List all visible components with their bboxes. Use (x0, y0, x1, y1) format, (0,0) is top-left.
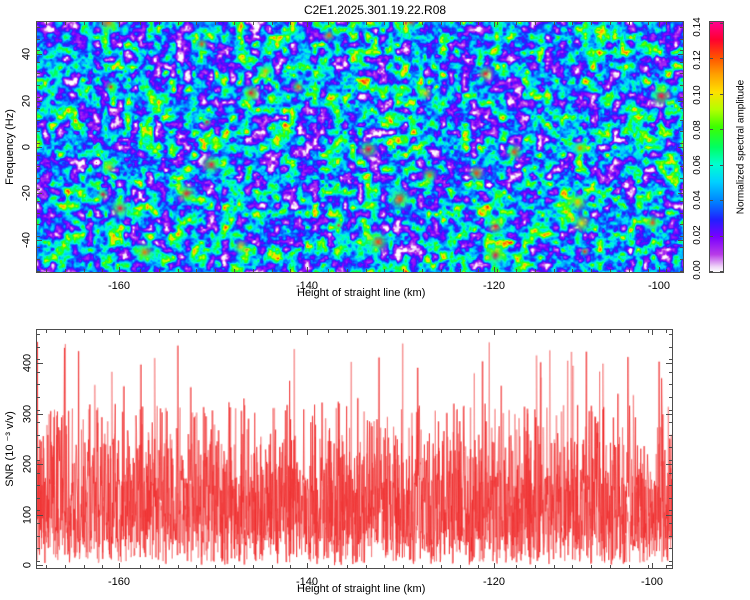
tick-mark (710, 129, 713, 130)
tick-mark (366, 330, 367, 333)
tick-mark (253, 565, 254, 568)
tick-mark (37, 510, 40, 511)
colorbar-tick-7: 0.14 (693, 17, 703, 36)
tick-mark (659, 267, 660, 272)
tick-mark (37, 166, 40, 167)
tick-mark (680, 201, 683, 202)
tick-mark (37, 193, 42, 194)
tick-mark (648, 22, 649, 25)
tick-mark (119, 22, 120, 27)
tick-mark (366, 565, 367, 568)
tick-mark (272, 565, 273, 568)
tick-mark (84, 330, 85, 333)
tick-mark (680, 143, 683, 144)
tick-mark (652, 330, 653, 335)
tick-mark (102, 269, 103, 272)
tick-mark (659, 22, 660, 27)
tick-mark (666, 22, 667, 25)
snr-ytick-3: 300 (23, 405, 34, 423)
tick-mark (37, 259, 40, 260)
tick-mark (159, 269, 160, 272)
tick-mark (46, 330, 47, 333)
tick-mark (460, 269, 461, 272)
tick-mark (629, 330, 630, 333)
tick-mark (591, 330, 592, 333)
tick-mark (572, 22, 573, 25)
tick-mark (65, 22, 66, 25)
tick-mark (37, 397, 40, 398)
tick-mark (669, 548, 672, 549)
tick-mark (680, 50, 683, 51)
tick-mark (307, 267, 308, 272)
tick-mark (478, 330, 479, 333)
colorbar-tick-4: 0.08 (693, 120, 703, 139)
tick-mark (37, 565, 43, 566)
tick-mark (680, 224, 683, 225)
tick-mark (591, 269, 592, 272)
tick-mark (140, 269, 141, 272)
tick-mark (460, 565, 461, 568)
tick-mark (37, 240, 42, 241)
tick-mark (46, 269, 47, 272)
tick-mark (535, 22, 536, 25)
tick-mark (441, 330, 442, 333)
tick-mark (37, 536, 40, 537)
spectrogram-xtick-3: -100 (648, 281, 670, 292)
tick-mark (102, 565, 103, 568)
tick-mark (37, 435, 40, 436)
snr-y-axis-label: SNR (10 ⁻³ v/v) (4, 411, 16, 486)
tick-mark (666, 464, 672, 465)
tick-mark (215, 330, 216, 333)
tick-mark (610, 565, 611, 568)
tick-mark (610, 330, 611, 333)
tick-mark (347, 22, 348, 25)
tick-mark (272, 22, 273, 25)
tick-mark (441, 22, 442, 25)
tick-mark (535, 330, 536, 333)
tick-mark (234, 565, 235, 568)
tick-mark (37, 155, 40, 156)
tick-mark (720, 94, 723, 95)
tick-mark (307, 563, 308, 568)
tick-mark (648, 565, 649, 568)
tick-mark (46, 565, 47, 568)
snr-x-axis-label: Height of straight line (km) (297, 583, 425, 595)
tick-mark (680, 166, 683, 167)
tick-mark (494, 330, 495, 335)
tick-mark (494, 267, 495, 272)
tick-mark (710, 94, 713, 95)
tick-mark (669, 410, 672, 411)
tick-mark (366, 269, 367, 272)
tick-mark (253, 22, 254, 25)
tick-mark (572, 330, 573, 333)
snr-ytick-0: 0 (23, 562, 34, 568)
tick-mark (680, 73, 683, 74)
tick-mark (678, 147, 683, 148)
snr-xtick-2: -120 (483, 577, 505, 588)
tick-mark (46, 22, 47, 25)
tick-mark (37, 101, 42, 102)
tick-mark (516, 330, 517, 333)
tick-mark (680, 155, 683, 156)
tick-mark (680, 271, 683, 272)
tick-mark (403, 22, 404, 25)
tick-mark (720, 58, 723, 59)
tick-mark (196, 565, 197, 568)
tick-mark (37, 224, 40, 225)
colorbar-axis-label: Normalized spectral amplitude (736, 80, 747, 215)
tick-mark (196, 22, 197, 25)
tick-mark (37, 460, 40, 461)
tick-mark (460, 22, 461, 25)
tick-mark (37, 213, 40, 214)
tick-mark (65, 269, 66, 272)
tick-mark (710, 165, 713, 166)
tick-mark (669, 334, 672, 335)
tick-mark (610, 269, 611, 272)
tick-mark (669, 460, 672, 461)
tick-mark (37, 548, 40, 549)
tick-mark (37, 422, 40, 423)
tick-mark (290, 565, 291, 568)
snr-xtick-0: -160 (108, 577, 130, 588)
tick-mark (37, 498, 40, 499)
tick-mark (680, 259, 683, 260)
tick-mark (669, 422, 672, 423)
tick-mark (669, 485, 672, 486)
tick-mark (710, 23, 713, 24)
tick-mark (84, 269, 85, 272)
tick-mark (37, 359, 40, 360)
tick-mark (253, 269, 254, 272)
tick-mark (178, 269, 179, 272)
snr-canvas (37, 330, 672, 568)
spectrogram-xtick-0: -160 (108, 281, 130, 292)
tick-mark (84, 22, 85, 25)
tick-mark (119, 563, 120, 568)
tick-mark (678, 54, 683, 55)
tick-mark (441, 269, 442, 272)
tick-mark (648, 330, 649, 333)
snr-ytick-4: 400 (23, 354, 34, 372)
tick-mark (215, 269, 216, 272)
tick-mark (37, 363, 43, 364)
tick-mark (347, 330, 348, 333)
tick-mark (307, 330, 308, 335)
tick-mark (37, 189, 40, 190)
tick-mark (669, 561, 672, 562)
spectrogram-y-axis-label: Frequency (Hz) (4, 109, 16, 185)
tick-mark (403, 330, 404, 333)
tick-mark (610, 22, 611, 25)
tick-mark (669, 536, 672, 537)
spectrogram-ytick-2: 0 (22, 144, 33, 150)
tick-mark (666, 565, 667, 568)
tick-mark (680, 97, 683, 98)
tick-mark (37, 85, 40, 86)
tick-mark (178, 330, 179, 333)
tick-mark (37, 384, 40, 385)
tick-mark (554, 565, 555, 568)
spectrogram-ytick-4: 40 (22, 48, 33, 60)
tick-mark (290, 269, 291, 272)
tick-mark (680, 178, 683, 179)
tick-mark (37, 271, 40, 272)
tick-mark (669, 384, 672, 385)
tick-mark (37, 372, 40, 373)
tick-mark (680, 236, 683, 237)
tick-mark (102, 22, 103, 25)
tick-mark (37, 515, 43, 516)
spectrogram-xtick-2: -120 (483, 281, 505, 292)
tick-mark (648, 269, 649, 272)
tick-mark (215, 22, 216, 25)
tick-mark (403, 269, 404, 272)
tick-mark (478, 22, 479, 25)
tick-mark (37, 447, 40, 448)
tick-mark (680, 108, 683, 109)
tick-mark (403, 565, 404, 568)
tick-mark (178, 565, 179, 568)
tick-mark (140, 565, 141, 568)
tick-mark (669, 347, 672, 348)
tick-mark (37, 97, 40, 98)
tick-mark (37, 561, 40, 562)
tick-mark (37, 334, 40, 335)
tick-mark (669, 473, 672, 474)
tick-mark (272, 330, 273, 333)
tick-mark (84, 565, 85, 568)
tick-mark (65, 565, 66, 568)
tick-mark (347, 269, 348, 272)
tick-mark (678, 193, 683, 194)
tick-mark (669, 359, 672, 360)
tick-mark (65, 330, 66, 333)
tick-mark (497, 22, 498, 25)
tick-mark (328, 330, 329, 333)
tick-mark (666, 330, 667, 333)
tick-mark (159, 22, 160, 25)
tick-mark (234, 330, 235, 333)
tick-mark (710, 271, 713, 272)
tick-mark (680, 120, 683, 121)
tick-mark (669, 498, 672, 499)
tick-mark (37, 73, 40, 74)
tick-mark (37, 464, 43, 465)
tick-mark (37, 485, 40, 486)
colorbar-tick-6: 0.12 (693, 50, 703, 69)
spectrogram-ytick-1: -20 (22, 185, 33, 201)
tick-mark (554, 330, 555, 333)
tick-mark (37, 523, 40, 524)
tick-mark (196, 330, 197, 333)
tick-mark (290, 22, 291, 25)
tick-mark (140, 330, 141, 333)
tick-mark (234, 269, 235, 272)
tick-mark (253, 330, 254, 333)
tick-mark (591, 22, 592, 25)
tick-mark (680, 189, 683, 190)
tick-mark (680, 62, 683, 63)
tick-mark (272, 269, 273, 272)
tick-mark (497, 269, 498, 272)
tick-mark (422, 565, 423, 568)
tick-mark (516, 22, 517, 25)
tick-mark (290, 330, 291, 333)
tick-mark (37, 120, 40, 121)
tick-mark (215, 565, 216, 568)
spectrogram-ytick-3: 20 (22, 95, 33, 107)
tick-mark (666, 515, 672, 516)
tick-mark (666, 269, 667, 272)
tick-mark (680, 247, 683, 248)
tick-mark (720, 236, 723, 237)
spectrogram-ytick-0: -40 (22, 232, 33, 248)
tick-mark (37, 143, 40, 144)
tick-mark (678, 240, 683, 241)
tick-mark (710, 200, 713, 201)
tick-mark (234, 22, 235, 25)
tick-mark (669, 447, 672, 448)
tick-mark (591, 565, 592, 568)
snr-ytick-2: 200 (23, 455, 34, 473)
figure-root: C2E1.2025.301.19.22.R08 Frequency (Hz) -… (0, 0, 750, 600)
tick-mark (680, 39, 683, 40)
tick-mark (666, 363, 672, 364)
tick-mark (37, 473, 40, 474)
tick-mark (572, 565, 573, 568)
tick-mark (102, 330, 103, 333)
tick-mark (119, 267, 120, 272)
tick-mark (720, 129, 723, 130)
snr-ytick-1: 100 (23, 506, 34, 524)
tick-mark (37, 347, 40, 348)
tick-mark (680, 213, 683, 214)
tick-mark (37, 54, 42, 55)
tick-mark (37, 247, 40, 248)
tick-mark (37, 108, 40, 109)
tick-mark (535, 269, 536, 272)
tick-mark (37, 147, 42, 148)
tick-mark (196, 269, 197, 272)
tick-mark (572, 269, 573, 272)
tick-mark (37, 414, 43, 415)
tick-mark (680, 27, 683, 28)
tick-mark (140, 22, 141, 25)
colorbar-tick-5: 0.10 (693, 85, 703, 104)
tick-mark (669, 372, 672, 373)
spectrogram-x-axis-label: Height of straight line (km) (297, 287, 425, 299)
tick-mark (37, 131, 40, 132)
tick-mark (478, 269, 479, 272)
colorbar-tick-2: 0.04 (693, 190, 703, 209)
tick-mark (366, 22, 367, 25)
tick-mark (328, 22, 329, 25)
tick-mark (328, 269, 329, 272)
tick-mark (441, 565, 442, 568)
tick-mark (422, 269, 423, 272)
tick-mark (307, 22, 308, 27)
tick-mark (422, 330, 423, 333)
tick-mark (494, 22, 495, 27)
tick-mark (460, 330, 461, 333)
tick-mark (37, 50, 40, 51)
tick-mark (554, 269, 555, 272)
tick-mark (384, 269, 385, 272)
tick-mark (384, 565, 385, 568)
tick-mark (37, 39, 40, 40)
tick-mark (384, 330, 385, 333)
tick-mark (669, 510, 672, 511)
tick-mark (720, 23, 723, 24)
tick-mark (669, 523, 672, 524)
tick-mark (494, 563, 495, 568)
tick-mark (669, 397, 672, 398)
tick-mark (37, 410, 40, 411)
tick-mark (422, 22, 423, 25)
tick-mark (680, 85, 683, 86)
colorbar-tick-3: 0.06 (693, 155, 703, 174)
tick-mark (666, 414, 672, 415)
snr-plot-area (36, 329, 673, 569)
colorbar-tick-1: 0.02 (693, 225, 703, 244)
tick-mark (516, 269, 517, 272)
tick-mark (37, 236, 40, 237)
tick-mark (669, 435, 672, 436)
tick-mark (516, 565, 517, 568)
tick-mark (37, 201, 40, 202)
tick-mark (159, 330, 160, 333)
tick-mark (680, 131, 683, 132)
page-title: C2E1.2025.301.19.22.R08 (0, 3, 750, 17)
tick-mark (720, 200, 723, 201)
tick-mark (37, 27, 40, 28)
tick-mark (178, 22, 179, 25)
tick-mark (159, 565, 160, 568)
colorbar-tick-0: 0.00 (693, 260, 703, 279)
tick-mark (535, 565, 536, 568)
tick-mark (328, 565, 329, 568)
tick-mark (629, 22, 630, 25)
tick-mark (384, 22, 385, 25)
tick-mark (119, 330, 120, 335)
tick-mark (629, 269, 630, 272)
tick-mark (720, 271, 723, 272)
tick-mark (37, 178, 40, 179)
tick-mark (478, 565, 479, 568)
spectrogram-canvas (37, 22, 683, 272)
tick-mark (678, 101, 683, 102)
snr-xtick-3: -100 (641, 577, 663, 588)
tick-mark (554, 22, 555, 25)
tick-mark (652, 563, 653, 568)
tick-mark (629, 565, 630, 568)
tick-mark (710, 236, 713, 237)
tick-mark (347, 565, 348, 568)
tick-mark (710, 58, 713, 59)
tick-mark (720, 165, 723, 166)
spectrogram-plot-area (36, 21, 684, 273)
tick-mark (37, 62, 40, 63)
